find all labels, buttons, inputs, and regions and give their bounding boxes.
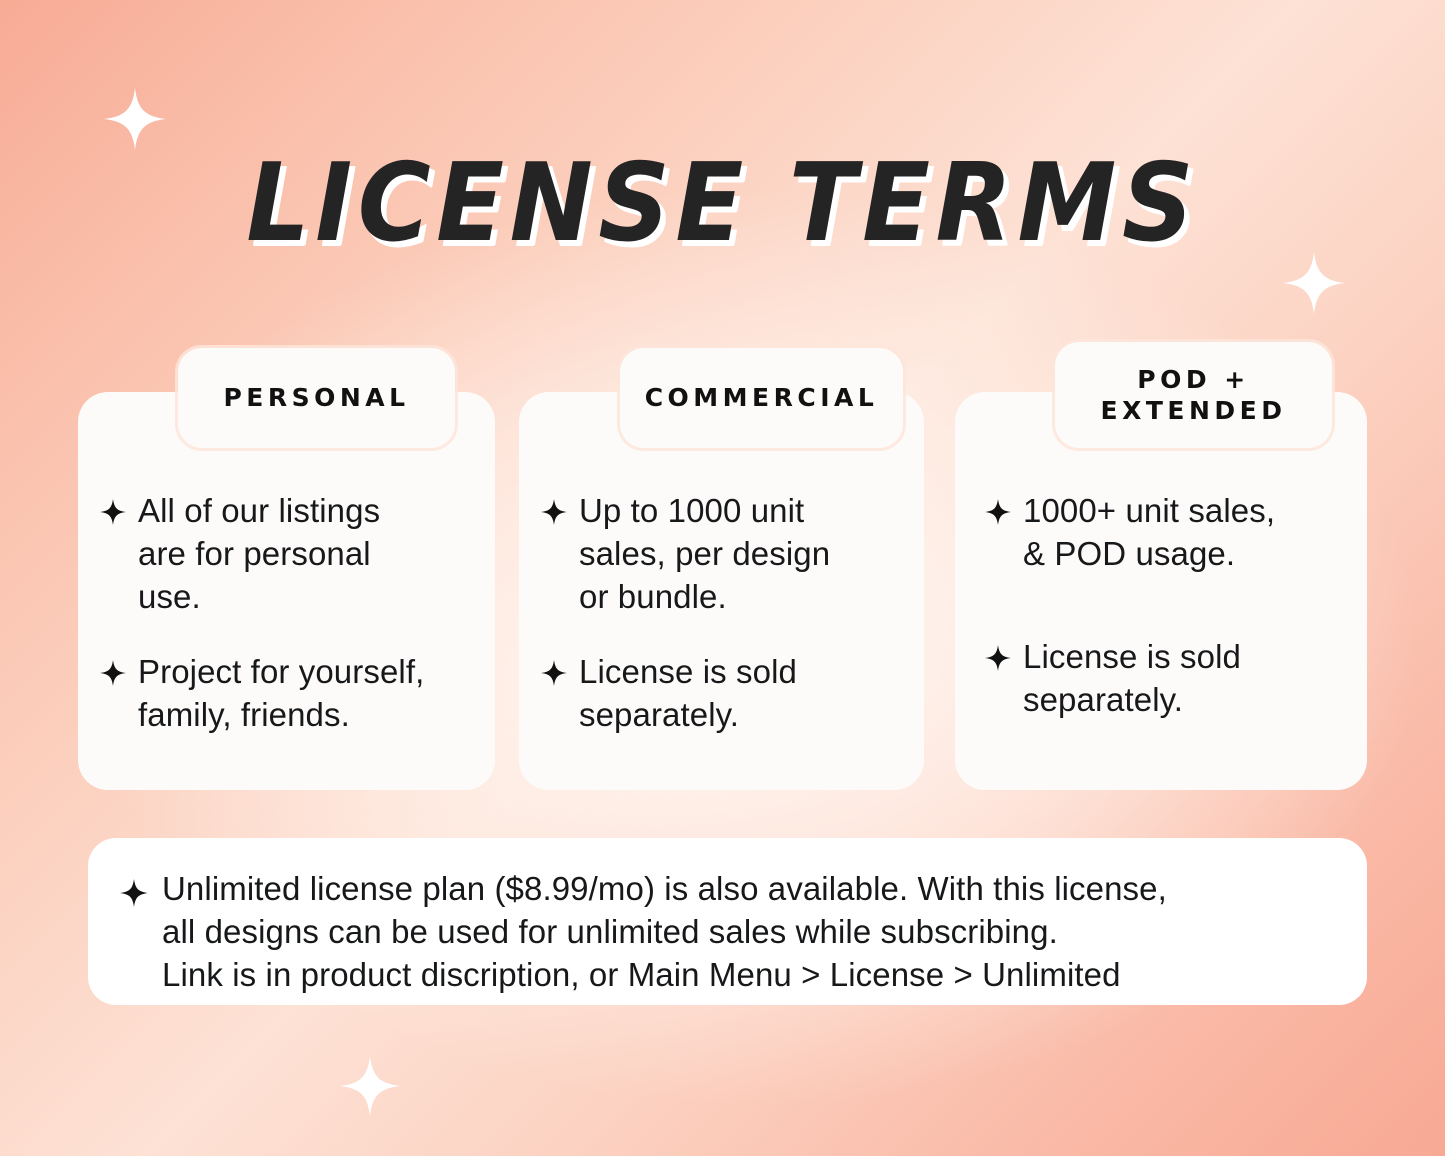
page-title-container: LICENSE TERMS xyxy=(0,150,1445,258)
card-body-personal: All of our listings are for personal use… xyxy=(78,392,495,790)
sparkle-bullet-icon xyxy=(985,645,1011,671)
feature-list-commercial: Up to 1000 unit sales, per design or bun… xyxy=(519,490,924,768)
banner-text: Unlimited license plan ($8.99/mo) is als… xyxy=(162,868,1167,997)
banner-row: Unlimited license plan ($8.99/mo) is als… xyxy=(120,868,1339,997)
unlimited-plan-banner[interactable]: Unlimited license plan ($8.99/mo) is als… xyxy=(88,838,1367,1005)
sparkle-bullet-icon xyxy=(120,879,148,907)
feature-list-personal: All of our listings are for personal use… xyxy=(78,490,495,768)
sparkle-icon xyxy=(104,88,166,150)
list-item-text: Project for yourself, family, friends. xyxy=(138,651,424,737)
card-badge-label: POD + EXTENDED xyxy=(1101,364,1287,427)
card-badge-pod-extended: POD + EXTENDED xyxy=(1055,342,1332,448)
card-badge-label: PERSONAL xyxy=(223,382,409,414)
card-body-commercial: Up to 1000 unit sales, per design or bun… xyxy=(519,392,924,790)
list-item-text: Up to 1000 unit sales, per design or bun… xyxy=(579,490,830,619)
list-item: Up to 1000 unit sales, per design or bun… xyxy=(541,490,904,619)
list-item: License is sold separately. xyxy=(985,636,1347,722)
sparkle-bullet-icon xyxy=(985,499,1011,525)
license-card-pod-extended[interactable]: 1000+ unit sales, & POD usage. License i… xyxy=(955,348,1367,790)
card-badge-commercial: COMMERCIAL xyxy=(620,348,903,448)
list-item: Project for yourself, family, friends. xyxy=(100,651,475,737)
page-title: LICENSE TERMS xyxy=(246,150,1199,258)
sparkle-bullet-icon xyxy=(541,499,567,525)
card-badge-personal: PERSONAL xyxy=(178,348,455,448)
list-item: License is sold separately. xyxy=(541,651,904,737)
feature-list-pod-extended: 1000+ unit sales, & POD usage. License i… xyxy=(955,490,1367,782)
list-item: All of our listings are for personal use… xyxy=(100,490,475,619)
list-item-text: License is sold separately. xyxy=(1023,636,1241,722)
list-item-text: All of our listings are for personal use… xyxy=(138,490,380,619)
list-item-text: License is sold separately. xyxy=(579,651,797,737)
sparkle-icon xyxy=(340,1056,400,1116)
list-item: 1000+ unit sales, & POD usage. xyxy=(985,490,1347,576)
card-badge-label: COMMERCIAL xyxy=(645,382,879,414)
list-item-text: 1000+ unit sales, & POD usage. xyxy=(1023,490,1275,576)
license-card-commercial[interactable]: Up to 1000 unit sales, per design or bun… xyxy=(519,348,924,790)
sparkle-bullet-icon xyxy=(100,660,126,686)
license-terms-poster: LICENSE TERMS All of our listings are fo… xyxy=(0,0,1445,1156)
sparkle-bullet-icon xyxy=(100,499,126,525)
sparkle-icon xyxy=(1283,252,1345,314)
sparkle-bullet-icon xyxy=(541,660,567,686)
license-card-personal[interactable]: All of our listings are for personal use… xyxy=(78,348,495,790)
card-body-pod-extended: 1000+ unit sales, & POD usage. License i… xyxy=(955,392,1367,790)
license-cards-row: All of our listings are for personal use… xyxy=(78,348,1367,790)
